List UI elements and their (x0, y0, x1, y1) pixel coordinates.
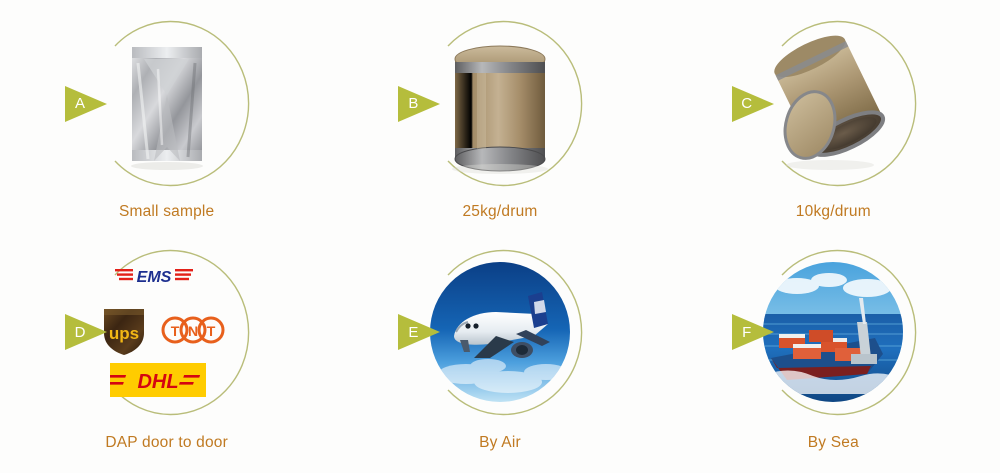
step-letter-e: E (396, 310, 430, 354)
svg-text:N: N (188, 323, 198, 339)
container-ship-photo (758, 257, 908, 407)
ring-wrap-d: EMS u (79, 245, 254, 420)
item-caption-b: 25kg/drum (462, 203, 537, 221)
item-cell-d: EMS u (0, 237, 333, 473)
item-caption-d: DAP door to door (105, 434, 228, 452)
step-badge-b: B (396, 82, 442, 126)
tnt-logo: T N T (160, 313, 226, 347)
step-badge-a: A (63, 82, 109, 126)
step-letter-a: A (63, 82, 97, 126)
step-badge-f: F (730, 310, 776, 354)
step-letter-c: C (730, 82, 764, 126)
fiber-drum-photo (425, 29, 575, 179)
item-caption-c: 10kg/drum (796, 203, 871, 221)
step-badge-d: D (63, 310, 109, 354)
courier-logos: EMS u (92, 257, 242, 407)
ring-wrap-e: E (412, 245, 587, 420)
foil-bag-photo (92, 29, 242, 179)
item-cell-a: A Small sample (0, 0, 333, 237)
packaging-shipping-grid: A Small sample (0, 0, 1000, 473)
step-letter-d: D (63, 310, 97, 354)
step-letter-f: F (730, 310, 764, 354)
ring-wrap-f: F (746, 245, 921, 420)
step-badge-e: E (396, 310, 442, 354)
svg-text:ups: ups (109, 324, 139, 343)
svg-text:EMS: EMS (136, 269, 171, 286)
svg-text:T: T (206, 323, 215, 339)
ems-logo: EMS (115, 265, 193, 289)
svg-text:T: T (170, 323, 179, 339)
dhl-logo: DHL (110, 363, 206, 397)
step-letter-b: B (396, 82, 430, 126)
cargo-plane-photo (425, 257, 575, 407)
ring-wrap-c: C (746, 16, 921, 191)
item-caption-e: By Air (479, 434, 521, 452)
step-badge-c: C (730, 82, 776, 126)
item-caption-a: Small sample (119, 203, 214, 221)
item-cell-c: C 10kg/drum (667, 0, 1000, 237)
ring-wrap-a: A (79, 16, 254, 191)
item-cell-f: F By Sea (667, 237, 1000, 473)
open-drum-photo (758, 29, 908, 179)
item-cell-e: E By Air (333, 237, 666, 473)
item-caption-f: By Sea (808, 434, 859, 452)
item-cell-b: B 25kg/drum (333, 0, 666, 237)
svg-text:DHL: DHL (137, 371, 178, 393)
ring-wrap-b: B (412, 16, 587, 191)
